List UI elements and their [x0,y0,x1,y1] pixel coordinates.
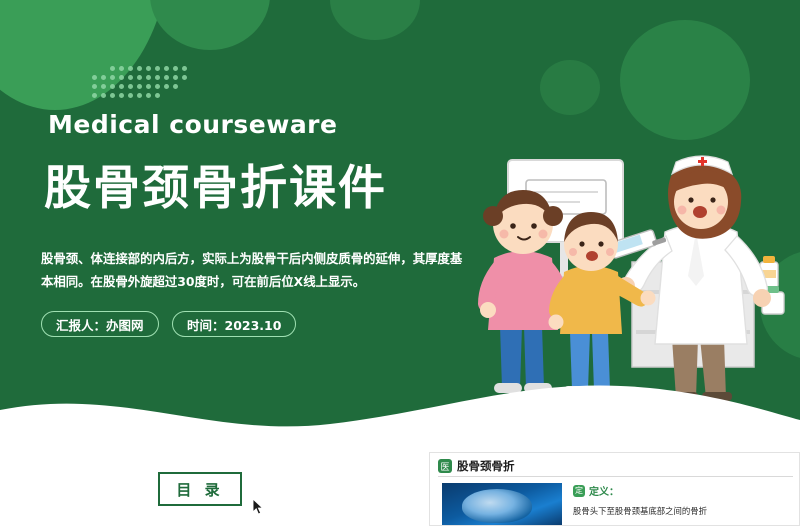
decorative-blob [540,60,600,115]
definition-label: 定义： [589,483,619,498]
date-pill: 时间：2023.10 [172,311,296,337]
medical-badge-icon: 医 [438,459,452,473]
slide-eyebrow: Medical courseware [48,110,337,139]
page-title: 股骨颈骨折课件 [44,163,387,215]
catalog-button[interactable]: 目 录 [158,472,242,506]
dot-grid-decoration [92,66,188,100]
decorative-blob [330,0,420,40]
xray-image [442,483,562,525]
definition-header: 定 定义： [573,483,619,498]
decorative-blob [620,20,750,140]
slide-canvas: Medical courseware 股骨颈骨折课件 股骨颈、体连接部的内后方，… [0,0,800,526]
title-slide: Medical courseware 股骨颈骨折课件 股骨颈、体连接部的内后方，… [0,0,800,440]
presenter-pill: 汇报人：办图网 [41,311,159,337]
mouse-cursor-icon [252,498,264,516]
wave-divider [0,372,800,440]
thumbnail-title: 股骨颈骨折 [457,458,515,474]
xray-bone-shape [462,489,532,523]
decorative-blob [150,0,270,50]
medical-illustration [460,140,800,405]
definition-text: 股骨头下至股骨颈基底部之间的骨折 [573,505,788,518]
thumbnail-header: 医 股骨颈骨折 [438,458,515,474]
definition-badge-icon: 定 [573,485,585,497]
slide-subtitle: 股骨颈、体连接部的内后方，实际上为股骨干后内侧皮质骨的延伸，其厚度基本相同。在股… [41,248,463,294]
thumbnail-divider [438,476,793,477]
thumbnail-slide[interactable]: 医 股骨颈骨折 定 定义： 股骨头下至股骨颈基底部之间的骨折 [429,452,800,526]
